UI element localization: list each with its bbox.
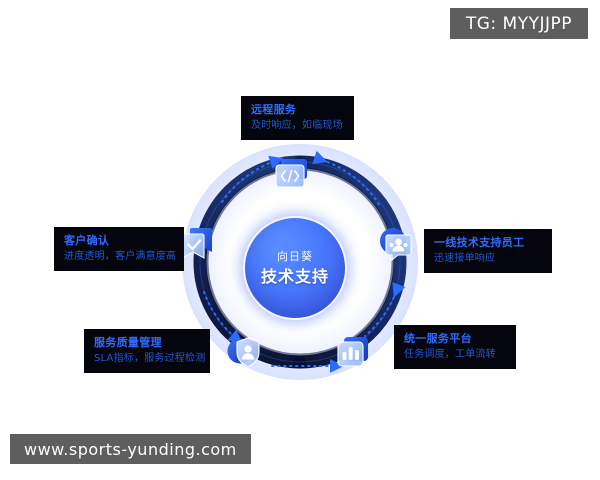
telegram-tag-watermark: TG: MYYJJPP <box>450 8 588 39</box>
center-hub: 向日葵 技术支持 <box>245 218 345 318</box>
node-label-service-quality-management[interactable]: 服务质量管理 SLA指标，服务过程检测 <box>84 329 210 373</box>
hub-brand: 向日葵 <box>277 251 313 262</box>
node-subtitle: 迅速接单响应 <box>434 252 542 266</box>
node-label-remote-service[interactable]: 远程服务 及时响应，如临现场 <box>241 96 354 140</box>
node-label-unified-service-platform[interactable]: 统一服务平台 任务调度，工单流转 <box>394 325 516 369</box>
shield-user-icon[interactable] <box>225 332 265 372</box>
code-window-icon[interactable] <box>272 155 312 195</box>
node-title: 服务质量管理 <box>94 336 200 350</box>
diagram-canvas: 向日葵 技术支持 <box>0 0 600 480</box>
node-subtitle: 进度透明，客户满意度高 <box>64 250 174 264</box>
check-banner-icon[interactable] <box>178 224 218 264</box>
node-label-frontline-support-staff[interactable]: 一线技术支持员工 迅速接单响应 <box>424 229 552 273</box>
technical-support-cycle-diagram: 向日葵 技术支持 <box>0 0 600 480</box>
node-label-customer-confirmation[interactable]: 客户确认 进度透明，客户满意度高 <box>54 227 184 271</box>
node-title: 客户确认 <box>64 234 174 248</box>
node-title: 一线技术支持员工 <box>434 236 542 250</box>
user-bubble-icon[interactable] <box>376 225 416 265</box>
node-subtitle: 任务调度，工单流转 <box>404 348 506 362</box>
node-title: 远程服务 <box>251 103 344 117</box>
chart-card-icon[interactable] <box>333 332 373 372</box>
website-watermark: www.sports-yunding.com <box>10 434 251 464</box>
node-subtitle: SLA指标，服务过程检测 <box>94 352 200 366</box>
node-subtitle: 及时响应，如临现场 <box>251 119 344 133</box>
node-title: 统一服务平台 <box>404 332 506 346</box>
hub-title: 技术支持 <box>261 269 329 285</box>
